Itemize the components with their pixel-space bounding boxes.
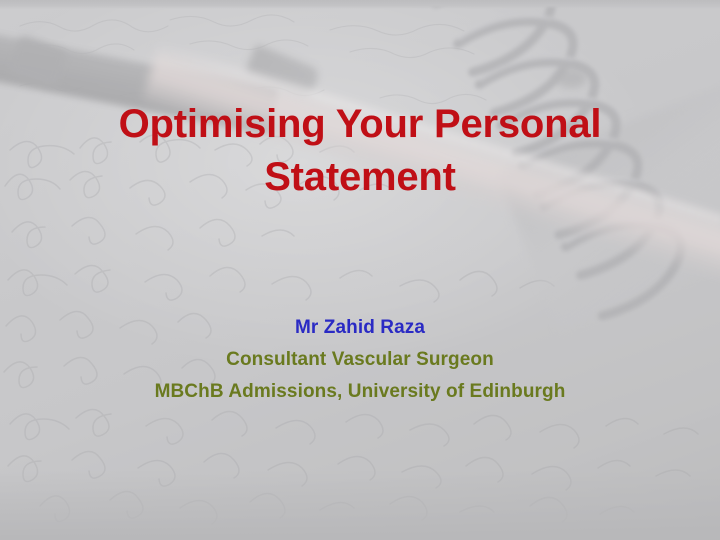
presenter-affiliation: MBChB Admissions, University of Edinburg… bbox=[40, 376, 680, 408]
slide-content: Optimising Your Personal Statement Mr Za… bbox=[0, 0, 720, 540]
subtitle-placeholder: Mr Zahid Raza Consultant Vascular Surgeo… bbox=[40, 312, 680, 408]
title-line-1: Optimising Your Personal bbox=[60, 98, 660, 151]
presenter-name: Mr Zahid Raza bbox=[40, 312, 680, 344]
title-slide: Optimising Your Personal Statement Mr Za… bbox=[0, 0, 720, 540]
title-line-2: Statement bbox=[60, 151, 660, 204]
title-placeholder: Optimising Your Personal Statement bbox=[60, 98, 660, 204]
presenter-role: Consultant Vascular Surgeon bbox=[40, 344, 680, 376]
